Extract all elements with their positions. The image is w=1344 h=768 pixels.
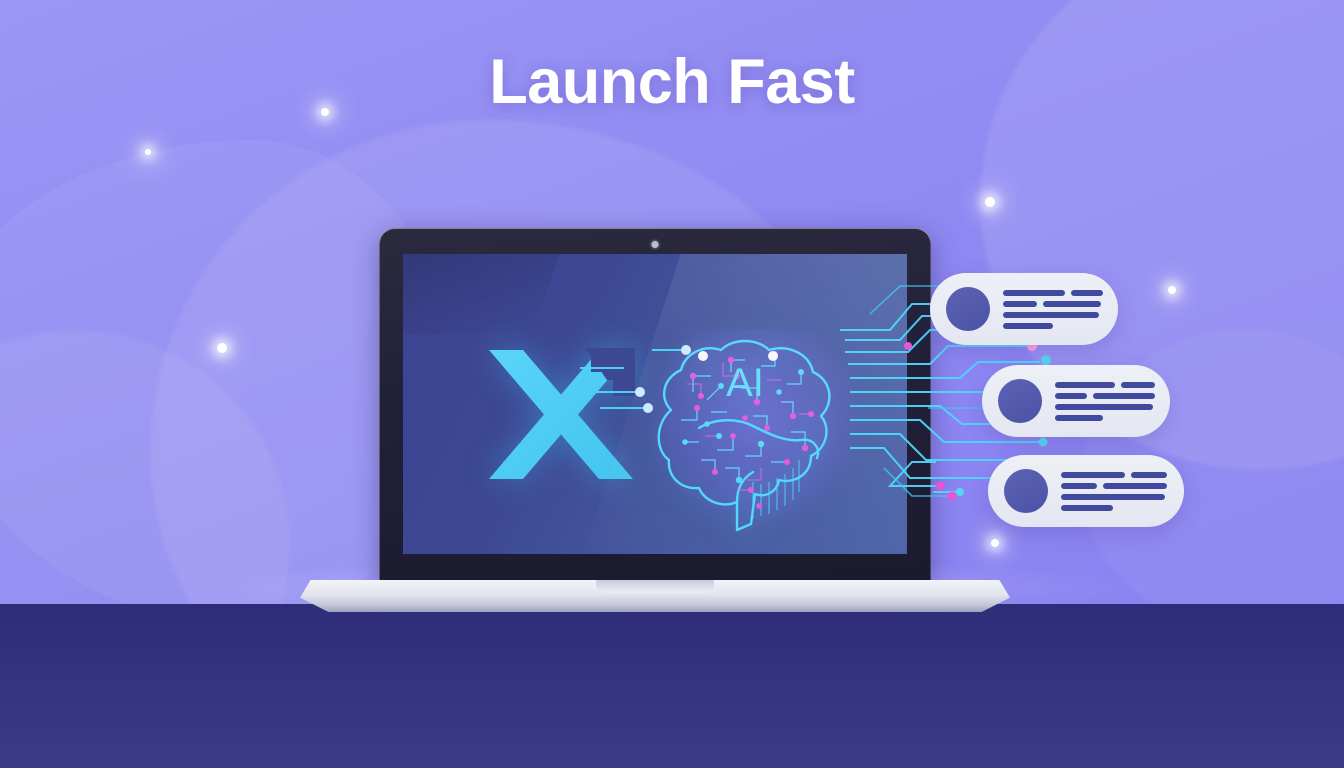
placeholder-bar <box>1103 483 1167 489</box>
hero-banner: Launch Fast <box>0 0 1344 768</box>
screen-shadow <box>403 254 575 334</box>
placeholder-bar <box>1043 301 1101 307</box>
placeholder-bar <box>1061 472 1125 478</box>
laptop-lid: AI <box>379 228 931 583</box>
avatar <box>1004 469 1048 513</box>
placeholder-bar <box>1003 323 1053 329</box>
placeholder-bar <box>1131 472 1167 478</box>
laptop-base-notch <box>596 580 714 593</box>
placeholder-bar <box>1055 393 1087 399</box>
placeholder-line-row <box>1055 393 1155 399</box>
avatar <box>946 287 990 331</box>
placeholder-line-row <box>1055 415 1155 421</box>
placeholder-bar <box>1055 415 1103 421</box>
placeholder-bar <box>1003 312 1099 318</box>
page-title: Launch Fast <box>0 46 1344 118</box>
placeholder-bar <box>1061 494 1165 500</box>
message-card[interactable] <box>930 273 1118 345</box>
webcam-dot-icon <box>652 241 659 248</box>
desk-surface <box>0 604 1344 768</box>
message-placeholder-lines <box>1055 382 1155 421</box>
placeholder-line-row <box>1055 382 1155 388</box>
placeholder-line-row <box>1003 323 1103 329</box>
placeholder-line-row <box>1003 312 1103 318</box>
message-placeholder-lines <box>1003 290 1103 329</box>
placeholder-bar <box>1055 404 1153 410</box>
sparkle-dot-icon <box>1168 286 1176 294</box>
placeholder-bar <box>1003 301 1037 307</box>
placeholder-bar <box>1003 290 1065 296</box>
message-placeholder-lines <box>1061 472 1167 511</box>
placeholder-bar <box>1061 505 1113 511</box>
message-card[interactable] <box>988 455 1184 527</box>
placeholder-line-row <box>1061 483 1167 489</box>
placeholder-bar <box>1061 483 1097 489</box>
sparkle-dot-icon <box>145 149 151 155</box>
placeholder-line-row <box>1061 494 1167 500</box>
placeholder-bar <box>1093 393 1155 399</box>
placeholder-bar <box>1055 382 1115 388</box>
message-card[interactable] <box>982 365 1170 437</box>
laptop-screen: AI <box>403 254 907 554</box>
placeholder-line-row <box>1061 505 1167 511</box>
sparkle-dot-icon <box>217 343 227 353</box>
placeholder-line-row <box>1061 472 1167 478</box>
placeholder-line-row <box>1055 404 1155 410</box>
avatar <box>998 379 1042 423</box>
placeholder-line-row <box>1003 301 1103 307</box>
placeholder-line-row <box>1003 290 1103 296</box>
sparkle-dot-icon <box>985 197 995 207</box>
placeholder-bar <box>1121 382 1155 388</box>
laptop-illustration: AI <box>300 228 1010 608</box>
placeholder-bar <box>1071 290 1103 296</box>
